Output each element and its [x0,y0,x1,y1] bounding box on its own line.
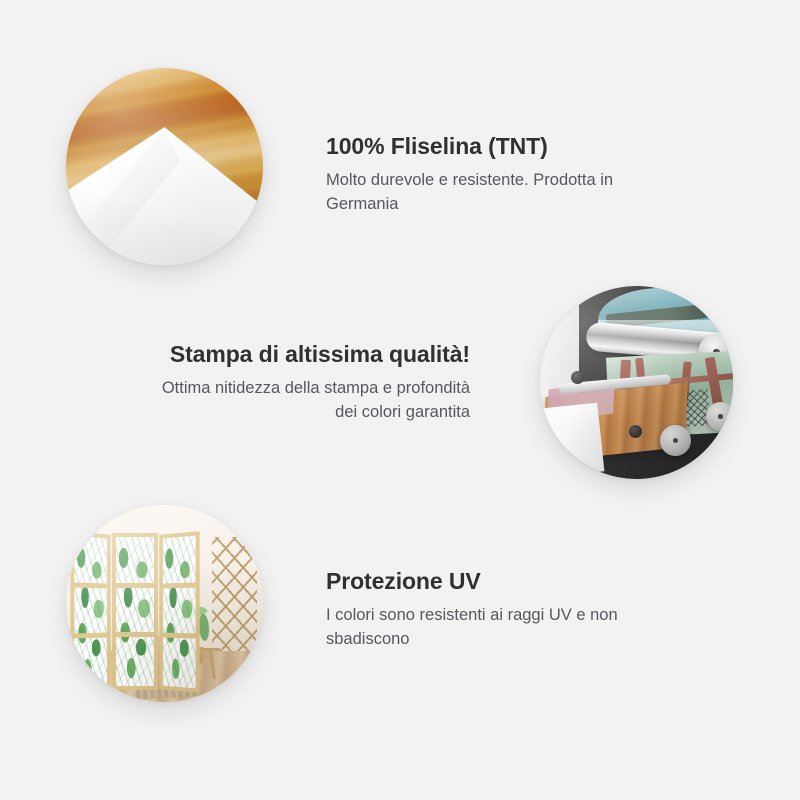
wallpaper-shading-overlay [66,68,263,265]
feature-image-uv [66,505,263,702]
feature-text-fliselina: 100% Fliselina (TNT) Molto durevole e re… [326,133,666,216]
feature-image-stampa [540,286,733,479]
feature-heading-fliselina: 100% Fliselina (TNT) [326,133,666,159]
feature-body-fliselina: Molto durevole e resistente. Prodotta in… [326,169,666,216]
room-illustration [66,505,263,702]
feature-body-uv: I colori sono resistenti ai raggi UV e n… [326,604,666,651]
feature-image-fliselina [66,68,263,265]
feature-text-uv: Protezione UV I colori sono resistenti a… [326,568,666,651]
feature-heading-uv: Protezione UV [326,568,666,594]
feature-heading-stampa: Stampa di altissima qualità! [150,341,470,367]
room-shading-overlay [66,505,263,702]
printer-shading-overlay [540,286,733,479]
feature-body-stampa: Ottima nitidezza della stampa e profondi… [150,377,470,424]
feature-text-stampa: Stampa di altissima qualità! Ottima niti… [150,341,470,424]
wallpaper-sheet-illustration [66,68,263,265]
promo-feature-stage: 100% Fliselina (TNT) Molto durevole e re… [0,0,800,800]
printer-illustration [540,286,733,479]
